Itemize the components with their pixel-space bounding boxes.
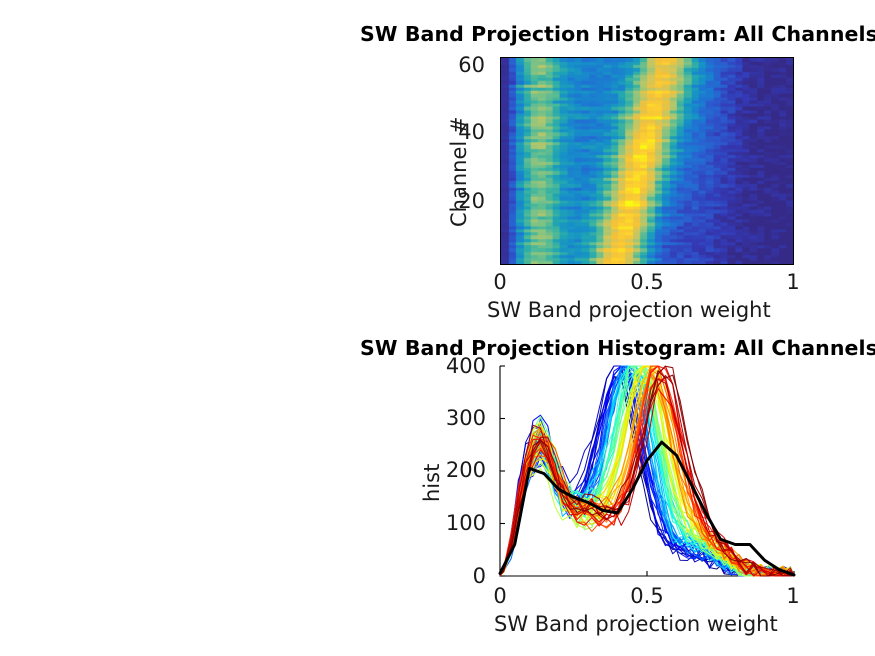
heatmap-ytick-20: 20 bbox=[455, 189, 485, 213]
lineplot-xtick-0: 0 bbox=[493, 584, 506, 608]
heatmap-ytick-60: 60 bbox=[455, 53, 485, 77]
heatmap-image bbox=[500, 57, 794, 265]
heatmap-xtick-05: 0.5 bbox=[630, 270, 663, 294]
heatmap-xtick-0: 0 bbox=[493, 270, 506, 294]
heatmap-title: SW Band Projection Histogram: All Channe… bbox=[360, 22, 875, 46]
heatmap-xtick-1: 1 bbox=[786, 270, 799, 294]
lineplot-ytick-300: 300 bbox=[428, 406, 486, 430]
lineplot-xlabel: SW Band projection weight bbox=[494, 612, 778, 636]
lineplot-xtick-1: 1 bbox=[786, 584, 799, 608]
lineplot-xtick-05: 0.5 bbox=[630, 584, 663, 608]
lineplot-ytick-100: 100 bbox=[428, 511, 486, 535]
lineplot-ytick-200: 200 bbox=[428, 458, 486, 482]
lineplot-axes bbox=[494, 358, 800, 584]
lineplot-ytick-0: 0 bbox=[428, 564, 486, 588]
lineplot-ytick-400: 400 bbox=[428, 354, 486, 378]
heatmap-xlabel: SW Band projection weight bbox=[487, 298, 771, 322]
heatmap-title-clip: SW Band Projection Histogram: All Channe… bbox=[360, 22, 875, 52]
heatmap-ytick-40: 40 bbox=[455, 120, 485, 144]
